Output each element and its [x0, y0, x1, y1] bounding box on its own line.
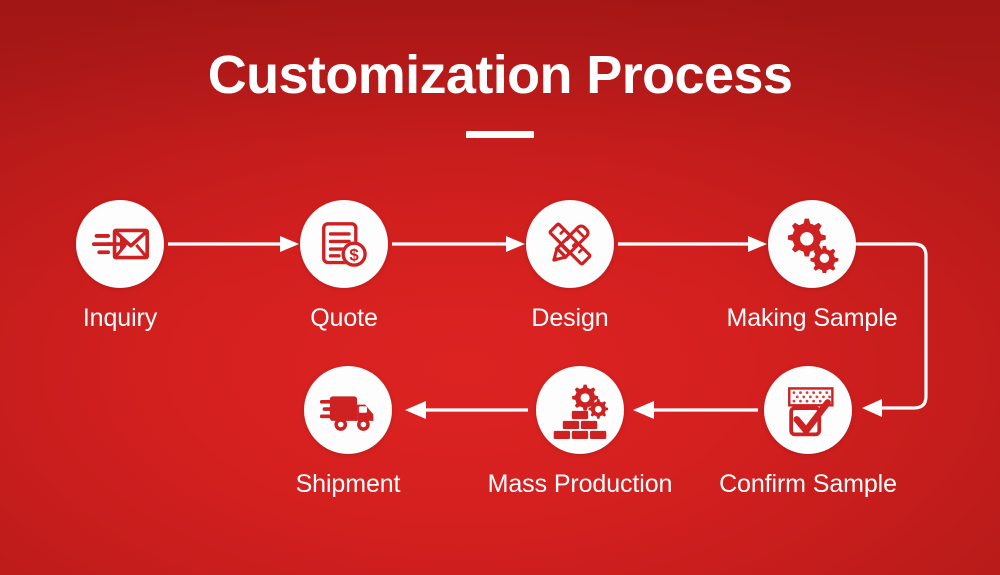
step-mass-production-label: Mass Production [488, 470, 673, 499]
step-making-sample-label: Making Sample [726, 304, 897, 333]
step-inquiry-label: Inquiry [83, 304, 157, 333]
step-inquiry-bubble[interactable] [76, 200, 164, 288]
step-quote-bubble[interactable]: $ [300, 200, 388, 288]
connector-quote-to-design [392, 232, 526, 256]
connector-confirm-sample-to-mass-production [632, 398, 758, 422]
gears-icon [783, 215, 841, 273]
sample-check-icon [778, 380, 838, 440]
connector-mass-production-to-shipment [404, 398, 528, 422]
invoice-dollar-icon: $ [317, 217, 371, 271]
connector-design-to-making-sample [618, 232, 768, 256]
delivery-truck-icon [319, 381, 377, 439]
fast-mail-icon [91, 215, 149, 273]
step-design-bubble[interactable] [526, 200, 614, 288]
infographic-canvas: Customization Process [0, 0, 1000, 575]
step-making-sample-bubble[interactable] [768, 200, 856, 288]
page-title: Customization Process [0, 46, 1000, 105]
step-quote-label: Quote [310, 304, 378, 333]
svg-text:$: $ [349, 245, 359, 264]
step-shipment-bubble[interactable] [304, 366, 392, 454]
title-divider [466, 131, 534, 138]
connector-inquiry-to-quote [168, 232, 300, 256]
step-mass-production-bubble[interactable] [536, 366, 624, 454]
step-design-label: Design [531, 304, 608, 333]
bricks-gears-icon [551, 381, 609, 439]
pencil-ruler-icon [542, 216, 598, 272]
step-confirm-sample-bubble[interactable] [764, 366, 852, 454]
step-confirm-sample-label: Confirm Sample [719, 470, 897, 499]
step-shipment-label: Shipment [296, 470, 401, 499]
